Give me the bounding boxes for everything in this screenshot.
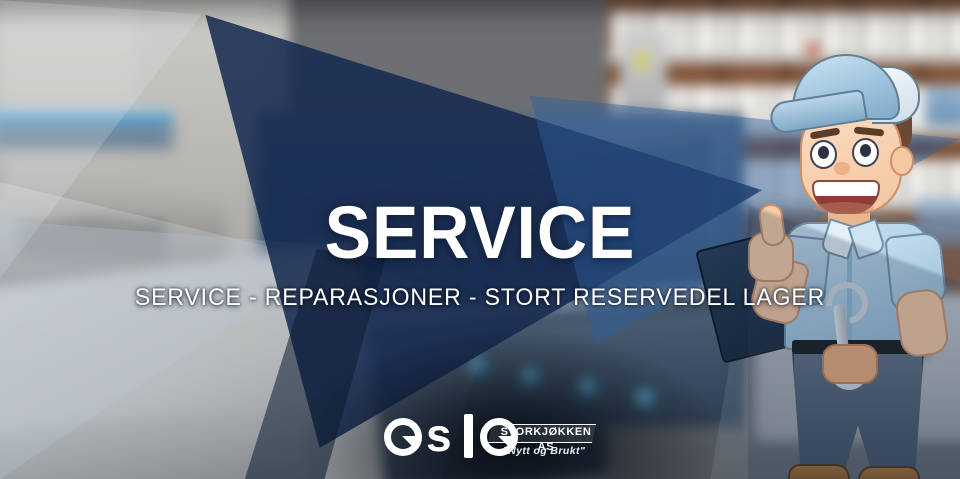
page-subtitle: SERVICE - REPARASJONER - STORT RESERVEDE… (19, 286, 941, 310)
mascot-hand-holding-wrench (822, 344, 878, 384)
logo-company-name: STORKJØKKEN AS (496, 425, 596, 440)
mascot-shoe-left (788, 464, 850, 479)
headline-block: SERVICE SERVICE - REPARASJONER - STORT R… (0, 196, 960, 310)
yellow-tag (637, 51, 648, 70)
mascot-shoe-right (858, 466, 920, 479)
service-banner: SERVICE SERVICE - REPARASJONER - STORT R… (0, 0, 960, 479)
logo-letter-s: s (426, 418, 460, 456)
logo-letter-l-icon (464, 414, 473, 458)
mascot-nose (834, 162, 850, 175)
page-title: SERVICE (29, 196, 931, 270)
mascot-pupil-left (818, 146, 829, 159)
logo-tagline: "Nytt og Brukt" (492, 444, 596, 458)
mascot-pupil-right (860, 144, 871, 157)
mascot-teeth (814, 182, 878, 196)
mascot-ear (890, 146, 914, 176)
company-logo[interactable]: s STORKJØKKEN AS "Nytt og Brukt" (384, 412, 584, 472)
